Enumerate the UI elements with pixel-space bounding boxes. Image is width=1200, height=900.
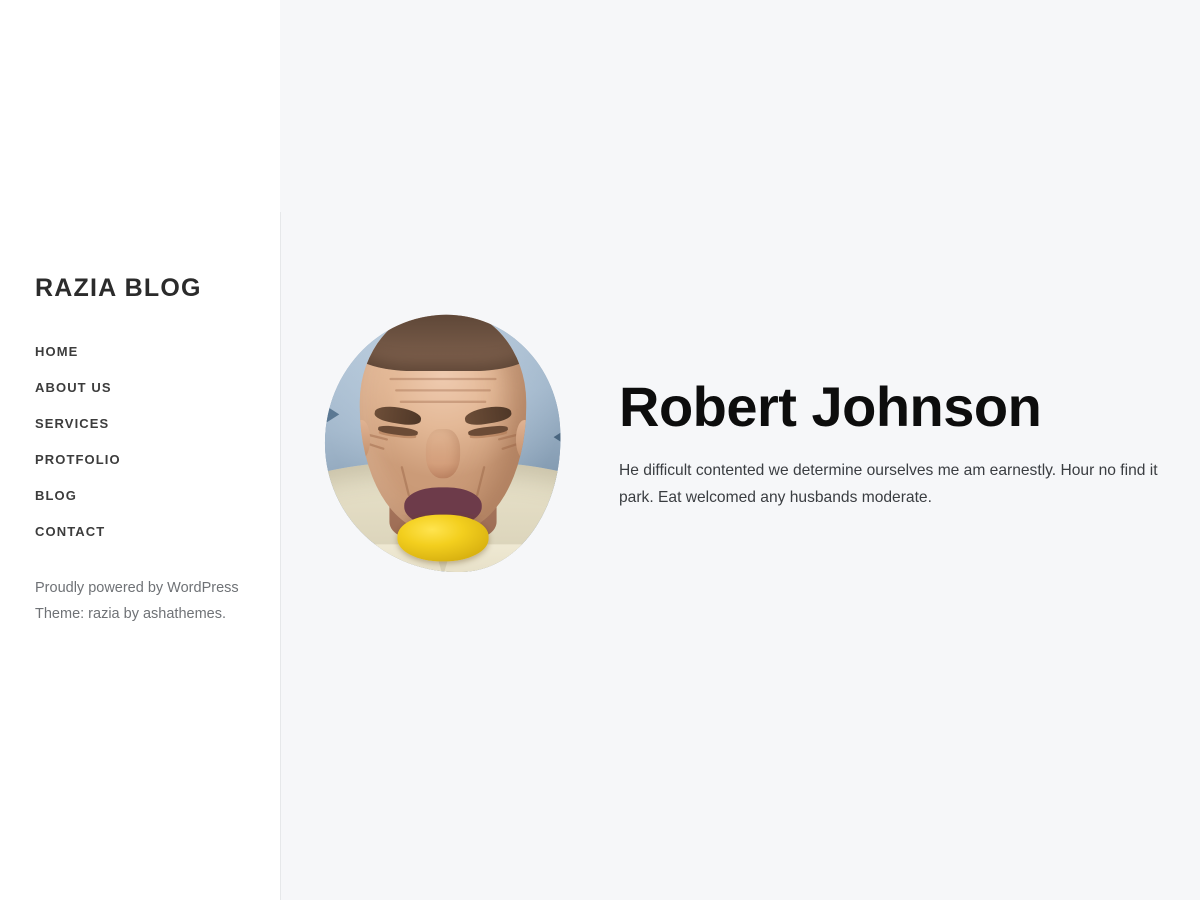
nav-item-about-us[interactable]: ABOUT US	[35, 381, 112, 394]
nav-item-home[interactable]: HOME	[35, 345, 78, 358]
hero-text-block: Robert Johnson He difficult contented we…	[619, 377, 1179, 524]
nav-item-protfolio[interactable]: PROTFOLIO	[35, 453, 121, 466]
backdrop-triangle-icon	[554, 429, 567, 445]
main-content: Robert Johnson He difficult contented we…	[280, 0, 1200, 900]
footer-credit-wordpress: Proudly powered by WordPress	[35, 576, 260, 602]
nasolabial-fold-right	[475, 465, 485, 496]
hero-title: Robert Johnson	[619, 377, 1179, 436]
hero-image-blob	[316, 307, 569, 581]
portrait-photo	[316, 307, 569, 581]
closed-eye-right	[468, 425, 509, 438]
hero-figure	[325, 315, 561, 573]
backdrop-triangle-icon	[549, 356, 562, 372]
nav-item-blog[interactable]: BLOG	[35, 489, 77, 502]
site-footer: Proudly powered by WordPress Theme: razi…	[35, 576, 260, 628]
ear-right	[516, 420, 526, 458]
forehead-wrinkle	[390, 378, 497, 380]
primary-navigation: HOME ABOUT US SERVICES PROTFOLIO BLOG CO…	[35, 345, 260, 538]
wordpress-credit-link[interactable]: Proudly powered by WordPress	[35, 580, 239, 596]
nose	[426, 429, 459, 478]
eyebrow-right	[464, 403, 513, 426]
lemon-wedge	[397, 515, 488, 562]
footer-theme-credit: Theme: razia by ashathemes.	[35, 602, 260, 628]
forehead-wrinkle	[400, 400, 487, 402]
head	[360, 309, 527, 533]
eye-crease	[498, 434, 518, 441]
sidebar: RAZIA BLOG HOME ABOUT US SERVICES PROTFO…	[0, 0, 280, 900]
hair	[360, 309, 527, 372]
hero-section: Robert Johnson He difficult contented we…	[280, 0, 1200, 900]
nasolabial-fold-left	[401, 465, 411, 496]
nav-item-contact[interactable]: CONTACT	[35, 525, 105, 538]
closed-eye-left	[378, 425, 419, 438]
site-title[interactable]: RAZIA BLOG	[35, 273, 260, 303]
eye-crease	[368, 434, 388, 441]
backdrop-triangle-icon	[327, 406, 340, 422]
forehead-wrinkle	[395, 389, 492, 391]
eyebrow-left	[374, 403, 423, 426]
hero-description: He difficult contented we determine ours…	[619, 458, 1164, 512]
nav-item-services[interactable]: SERVICES	[35, 417, 109, 430]
ear-left	[360, 420, 370, 458]
page-root: RAZIA BLOG HOME ABOUT US SERVICES PROTFO…	[0, 0, 1200, 900]
